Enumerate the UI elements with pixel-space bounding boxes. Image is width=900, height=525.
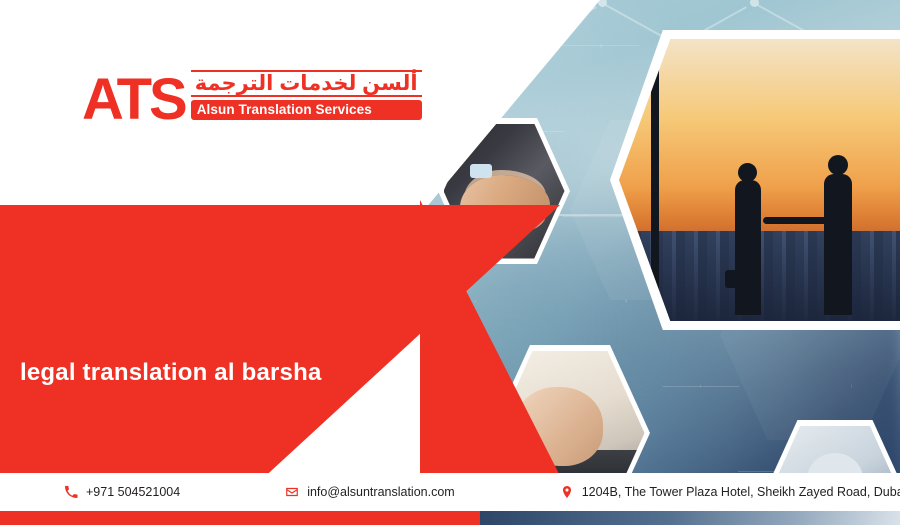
contact-footer: +971 504521004 info@alsuntranslation.com… xyxy=(0,473,900,511)
address-text: 1204B, The Tower Plaza Hotel, Sheikh Zay… xyxy=(582,485,900,499)
email-address: info@alsuntranslation.com xyxy=(307,485,455,499)
envelope-icon xyxy=(285,485,299,499)
phone-number: +971 504521004 xyxy=(86,485,180,499)
page-title: legal translation al barsha xyxy=(20,359,322,387)
footer-phone[interactable]: +971 504521004 xyxy=(64,485,180,499)
handshake-sunset-photo xyxy=(610,30,900,330)
logo-arabic-name: ألسن لخدمات الترجمة xyxy=(191,70,422,97)
bottom-image-strip xyxy=(480,511,900,525)
footer-email[interactable]: info@alsuntranslation.com xyxy=(285,485,455,499)
map-pin-icon xyxy=(560,485,574,499)
logo-english-name: Alsun Translation Services xyxy=(191,100,422,120)
logo-monogram: ATS xyxy=(82,76,185,124)
company-logo[interactable]: ATS ألسن لخدمات الترجمة Alsun Translatio… xyxy=(82,70,422,124)
phone-icon xyxy=(64,485,78,499)
footer-address[interactable]: 1204B, The Tower Plaza Hotel, Sheikh Zay… xyxy=(560,485,900,499)
promo-banner: legal translation al barsha ATS ألسن لخد… xyxy=(0,0,900,525)
